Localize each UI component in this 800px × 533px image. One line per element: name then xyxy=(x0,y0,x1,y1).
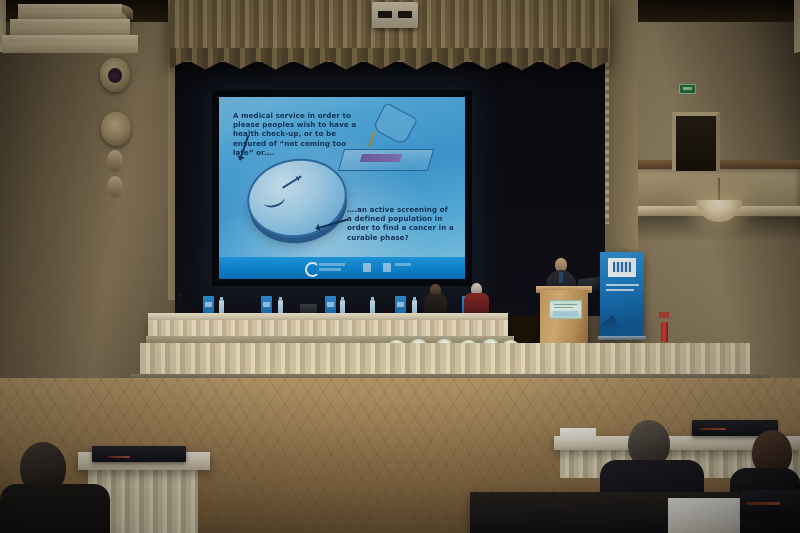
conference-hall-photo: A medical service in order to please peo… xyxy=(0,0,800,533)
gilt-cartouche-left-lower xyxy=(101,112,131,146)
water-bottle-4 xyxy=(370,300,375,314)
water-bottle-2 xyxy=(278,300,283,314)
speaker-tie xyxy=(559,272,563,283)
audience-pen-right xyxy=(700,428,726,430)
footer-logo-text-1 xyxy=(319,263,345,266)
banner-text-line-2 xyxy=(606,289,634,291)
projector-box xyxy=(372,2,418,28)
panel-placard-3 xyxy=(325,296,336,313)
audience-paper-right-1 xyxy=(560,428,596,441)
banner-text-line-1 xyxy=(606,284,639,286)
stage-steps xyxy=(0,0,140,52)
footer-logo-text-2 xyxy=(319,268,341,271)
podium-sign xyxy=(549,300,582,319)
exit-sign-icon xyxy=(679,84,696,94)
step-railing-right xyxy=(794,0,800,53)
projector-vent-right xyxy=(398,11,412,18)
slide-tray-specimen xyxy=(360,154,402,162)
gilt-drop-left xyxy=(107,150,123,172)
water-bottle-1 xyxy=(219,300,224,314)
audience-paper-front-1 xyxy=(668,498,740,533)
panel-placard-4 xyxy=(395,296,406,313)
footer-logo-c-icon xyxy=(305,262,320,277)
stage-step-face-3 xyxy=(2,42,138,53)
footer-logo-text-3 xyxy=(395,263,411,266)
fire-extinguisher-sign-icon xyxy=(659,312,669,318)
podium-sign-line-2 xyxy=(554,307,573,308)
stage-front-skirt xyxy=(140,343,750,377)
fire-extinguisher-icon xyxy=(661,322,668,342)
banner-logo-mark-icon xyxy=(613,262,631,272)
water-bottle-3 xyxy=(340,300,345,314)
banner-base xyxy=(598,336,646,340)
gilt-drop-left-2 xyxy=(107,176,123,198)
audience-folder-left xyxy=(92,446,186,462)
projection-screen: A medical service in order to please peo… xyxy=(219,97,465,279)
footer-logo-emblem-2 xyxy=(383,263,391,272)
panel-placard-2 xyxy=(261,296,272,313)
footer-logo-emblem-1 xyxy=(363,263,371,272)
cartouche-center-left xyxy=(108,68,122,83)
upper-doorway xyxy=(672,112,720,171)
water-bottle-5 xyxy=(412,300,417,314)
podium-sign-line-1 xyxy=(554,304,577,305)
projector-vent-left xyxy=(378,11,392,18)
audience-pen-left xyxy=(108,456,130,458)
audience-pen-front xyxy=(746,502,780,505)
audience-person-left-shoulders xyxy=(0,484,110,533)
panel-placard-1 xyxy=(203,296,214,313)
podium-sign-line-3 xyxy=(553,311,578,316)
panel-laptop xyxy=(300,304,317,313)
slide-footer-bar xyxy=(219,257,465,279)
slide-text-block-2: ….an active screening of a defined popul… xyxy=(347,205,455,242)
slide-text-block-1: A medical service in order to please peo… xyxy=(233,111,359,157)
